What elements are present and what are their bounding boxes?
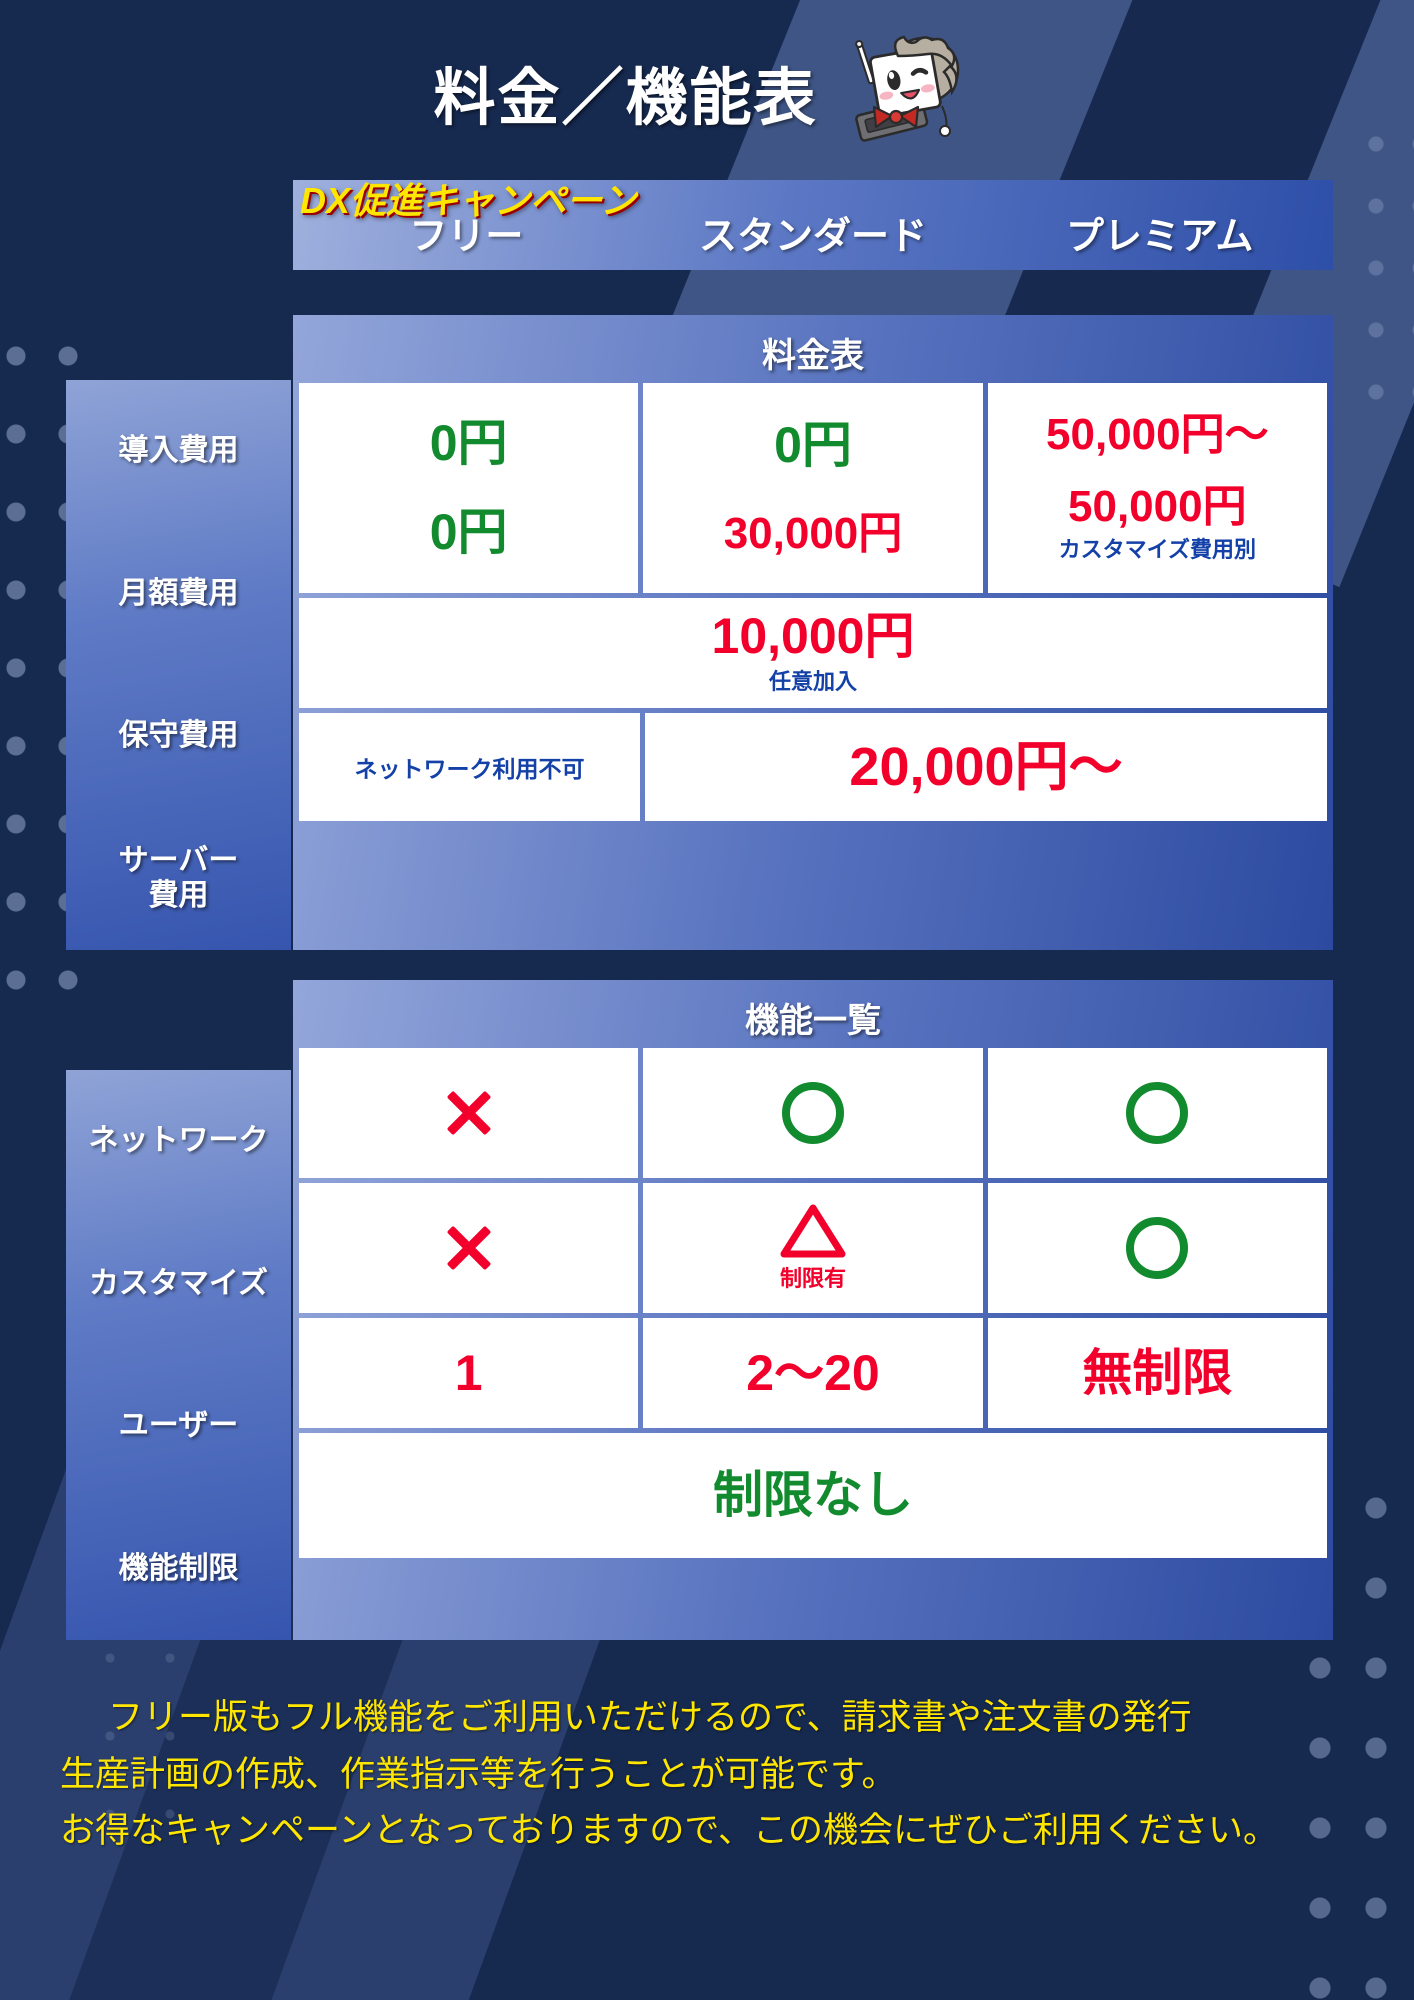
value-monthly-standard: 30,000円: [724, 511, 903, 557]
value-feature-limit: 制限なし: [713, 1469, 913, 1522]
row-label-users: ユーザー: [66, 1355, 291, 1498]
row-label-network: ネットワーク: [66, 1070, 291, 1213]
feature-row-label-column: ネットワーク カスタマイズ ユーザー 機能制限: [66, 1070, 291, 1640]
plan-column-premium[interactable]: プレミアム: [986, 180, 1333, 270]
dot-pattern-right-top: [1354, 120, 1414, 420]
cell-free-initial-monthly: 0円 0円: [299, 383, 638, 593]
price-section-title-text: 料金表: [762, 328, 864, 377]
value-maintenance: 10,000円: [712, 610, 915, 663]
page-title: 料金／機能表: [433, 47, 817, 137]
cell-network-premium: [988, 1048, 1327, 1178]
price-rows-initial-monthly: 0円 0円 0円 30,000円 50,000円～ 50,000円 カスタマイズ…: [299, 383, 1327, 593]
feature-row-customize: 制限有: [299, 1183, 1327, 1313]
cell-server-standard-premium: 20,000円～: [645, 713, 1327, 821]
price-grid: 0円 0円 0円 30,000円 50,000円～ 50,000円 カスタマイズ…: [299, 383, 1327, 821]
cross-mark-icon: [442, 1086, 496, 1140]
plan-label-standard: スタンダード: [699, 205, 927, 260]
row-label-monthly-cost: 月額費用: [66, 523, 291, 666]
row-label-network-text: ネットワーク: [89, 1124, 269, 1159]
feature-grid: 制限有 1 2～20 無制限: [299, 1048, 1327, 1558]
price-row-maintenance: 10,000円 任意加入: [299, 598, 1327, 708]
cell-customize-premium: [988, 1183, 1327, 1313]
cell-standard-initial-monthly: 0円 30,000円: [643, 383, 982, 593]
cross-mark-icon: [442, 1221, 496, 1275]
cell-users-free: 1: [299, 1318, 638, 1428]
row-label-initial-cost-text: 導入費用: [119, 434, 239, 469]
value-initial-standard: 0円: [774, 419, 852, 472]
price-section-title: 料金表: [299, 321, 1327, 383]
triangle-mark-icon: [780, 1203, 846, 1259]
note-maintenance: 任意加入: [769, 664, 857, 696]
cell-customize-standard: 制限有: [643, 1183, 982, 1313]
price-row-label-column: 導入費用 月額費用 保守費用 サーバー 費用: [66, 380, 291, 950]
value-users-premium: 無制限: [1082, 1347, 1232, 1400]
footer-description: フリー版もフル機能をご利用いただけるので、請求書や注文書の発行 生産計画の作成、…: [60, 1690, 1380, 1860]
cell-network-free: [299, 1048, 638, 1178]
plan-column-standard[interactable]: スタンダード: [640, 180, 987, 270]
note-monthly-premium: カスタマイズ費用別: [1059, 532, 1256, 564]
cell-server-free: ネットワーク利用不可: [299, 713, 640, 821]
cell-feature-limit-all-plans: 制限なし: [299, 1433, 1327, 1558]
row-label-server-cost: サーバー 費用: [66, 808, 291, 951]
circle-mark-icon: [782, 1082, 844, 1144]
row-label-server-cost-text: サーバー 費用: [119, 844, 239, 913]
value-server-standard-premium: 20,000円～: [849, 739, 1122, 796]
row-label-maintenance-cost-text: 保守費用: [119, 719, 239, 754]
feature-row-network: [299, 1048, 1327, 1178]
pricing-feature-poster: 料金／機能表: [0, 0, 1414, 2000]
value-users-standard: 2～20: [746, 1347, 879, 1400]
row-label-monthly-cost-text: 月額費用: [119, 577, 239, 612]
plan-label-premium: プレミアム: [1066, 205, 1253, 260]
circle-mark-icon: [1126, 1217, 1188, 1279]
laptop-character-mascot-icon: [846, 30, 981, 155]
feature-row-users: 1 2～20 無制限: [299, 1318, 1327, 1428]
feature-row-limit: 制限なし: [299, 1433, 1327, 1558]
note-customize-standard: 制限有: [780, 1261, 846, 1293]
price-section: 料金表 0円 0円 0円 30,000円 50,000円～ 50,000円 カス…: [293, 315, 1333, 950]
row-label-feature-limit: 機能制限: [66, 1498, 291, 1641]
value-initial-free: 0円: [430, 417, 508, 470]
row-label-customize-text: カスタマイズ: [89, 1267, 268, 1302]
value-monthly-free: 0円: [430, 506, 508, 559]
cell-network-standard: [643, 1048, 982, 1178]
footer-line-2: 生産計画の作成、作業指示等を行うことが可能です。: [60, 1747, 1380, 1804]
row-label-feature-limit-text: 機能制限: [119, 1552, 239, 1587]
feature-section: 機能一覧: [293, 980, 1333, 1640]
cell-users-standard: 2～20: [643, 1318, 982, 1428]
cell-users-premium: 無制限: [988, 1318, 1327, 1428]
value-server-free: ネットワーク利用不可: [355, 750, 585, 784]
value-monthly-premium-group: 50,000円 カスタマイズ費用別: [1059, 484, 1256, 564]
title-bar: 料金／機能表: [0, 32, 1414, 152]
cell-customize-free: [299, 1183, 638, 1313]
footer-line-3: お得なキャンペーンとなっておりますので、この機会にぜひご利用ください。: [60, 1803, 1380, 1860]
row-label-customize: カスタマイズ: [66, 1213, 291, 1356]
row-label-users-text: ユーザー: [119, 1409, 238, 1444]
circle-mark-icon: [1126, 1082, 1188, 1144]
value-initial-premium: 50,000円～: [1046, 412, 1269, 458]
feature-section-title: 機能一覧: [299, 986, 1327, 1048]
footer-line-1: フリー版もフル機能をご利用いただけるので、請求書や注文書の発行: [60, 1690, 1380, 1747]
cell-premium-initial-monthly: 50,000円～ 50,000円 カスタマイズ費用別: [988, 383, 1327, 593]
cell-maintenance-all-plans: 10,000円 任意加入: [299, 598, 1327, 708]
value-monthly-premium: 50,000円: [1059, 484, 1256, 530]
value-users-free: 1: [455, 1347, 483, 1400]
feature-section-title-text: 機能一覧: [745, 993, 881, 1042]
price-row-server: ネットワーク利用不可 20,000円～: [299, 713, 1327, 821]
row-label-initial-cost: 導入費用: [66, 380, 291, 523]
row-label-maintenance-cost: 保守費用: [66, 665, 291, 808]
campaign-badge: DX促進キャンペーン: [300, 172, 636, 224]
